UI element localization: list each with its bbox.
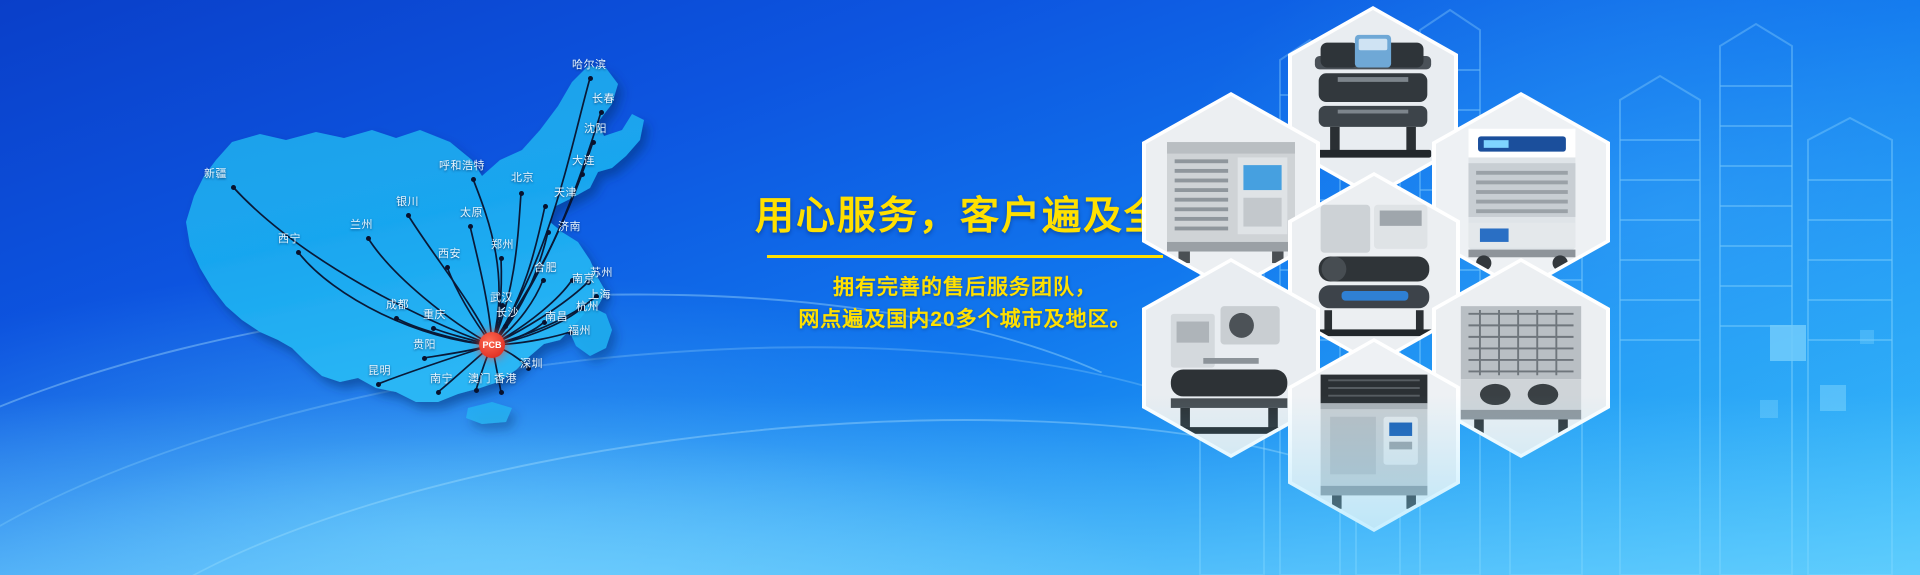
city-dot[interactable] [519, 191, 524, 196]
city-label: 香港 [494, 374, 517, 385]
city-label: 长春 [592, 94, 615, 105]
city-dot[interactable] [580, 172, 585, 177]
city-dot[interactable] [406, 213, 411, 218]
city-label: 南昌 [545, 312, 568, 323]
city-label: 武汉 [490, 293, 513, 304]
city-label: 西宁 [278, 234, 301, 245]
subline-1: 拥有完善的售后服务团队， [755, 272, 1175, 305]
city-dot[interactable] [474, 388, 479, 393]
promo-banner: 哈尔滨长春沈阳大连呼和浩特北京天津银川新疆太原兰州济南西宁郑州西安合肥南京苏州上… [0, 0, 1920, 575]
city-label: 呼和浩特 [439, 161, 485, 172]
headline-divider [767, 255, 1163, 258]
city-dot[interactable] [499, 390, 504, 395]
city-label: 济南 [558, 222, 581, 233]
city-label: 南宁 [430, 374, 453, 385]
city-dot[interactable] [471, 177, 476, 182]
city-label: 贵阳 [413, 340, 436, 351]
city-label: 福州 [568, 326, 591, 337]
city-label: 新疆 [204, 169, 227, 180]
city-label: 上海 [588, 290, 611, 301]
city-label: 郑州 [491, 240, 514, 251]
product-hexagon-cluster [1150, 0, 1920, 575]
city-label: 哈尔滨 [572, 60, 607, 71]
city-label: 北京 [511, 173, 534, 184]
city-dot[interactable] [591, 140, 596, 145]
city-dot[interactable] [541, 278, 546, 283]
city-label: 合肥 [534, 263, 557, 274]
city-dot[interactable] [436, 390, 441, 395]
hub-marker-guangzhou[interactable]: PCB [479, 332, 505, 358]
city-label: 大连 [572, 156, 595, 167]
city-dot[interactable] [445, 265, 450, 270]
city-label: 银川 [396, 197, 419, 208]
city-dot[interactable] [231, 185, 236, 190]
city-label: 沈阳 [584, 124, 607, 135]
city-dot[interactable] [543, 204, 548, 209]
city-dot[interactable] [599, 110, 604, 115]
city-label: 苏州 [590, 268, 613, 279]
city-label: 重庆 [423, 310, 446, 321]
city-dot[interactable] [376, 382, 381, 387]
city-dot[interactable] [499, 256, 504, 261]
hub-marker-label: PCB [482, 340, 501, 350]
city-dot[interactable] [394, 316, 399, 321]
city-dot[interactable] [468, 224, 473, 229]
city-label: 昆明 [368, 366, 391, 377]
city-dot[interactable] [296, 250, 301, 255]
city-label: 成都 [386, 300, 409, 311]
headline: 用心服务，客户遍及全国 [755, 196, 1175, 239]
city-dot[interactable] [366, 236, 371, 241]
subline-2: 网点遍及国内20多个城市及地区。 [755, 304, 1175, 337]
city-dot[interactable] [422, 356, 427, 361]
city-label: 天津 [554, 188, 577, 199]
city-label: 深圳 [520, 359, 543, 370]
city-label: 长沙 [496, 308, 519, 319]
city-dot[interactable] [503, 324, 508, 329]
city-dot[interactable] [431, 326, 436, 331]
city-label: 兰州 [350, 220, 373, 231]
city-dot[interactable] [588, 76, 593, 81]
city-label: 西安 [438, 249, 461, 260]
china-distribution-map: 哈尔滨长春沈阳大连呼和浩特北京天津银川新疆太原兰州济南西宁郑州西安合肥南京苏州上… [120, 10, 760, 440]
promo-copy-block: 用心服务，客户遍及全国 拥有完善的售后服务团队， 网点遍及国内20多个城市及地区… [755, 196, 1175, 337]
city-label: 杭州 [576, 302, 599, 313]
city-dot[interactable] [546, 230, 551, 235]
product-photo-air-cooled-condenser-unit [1436, 262, 1606, 454]
city-label: 澳门 [468, 374, 491, 385]
city-label: 太原 [460, 208, 483, 219]
